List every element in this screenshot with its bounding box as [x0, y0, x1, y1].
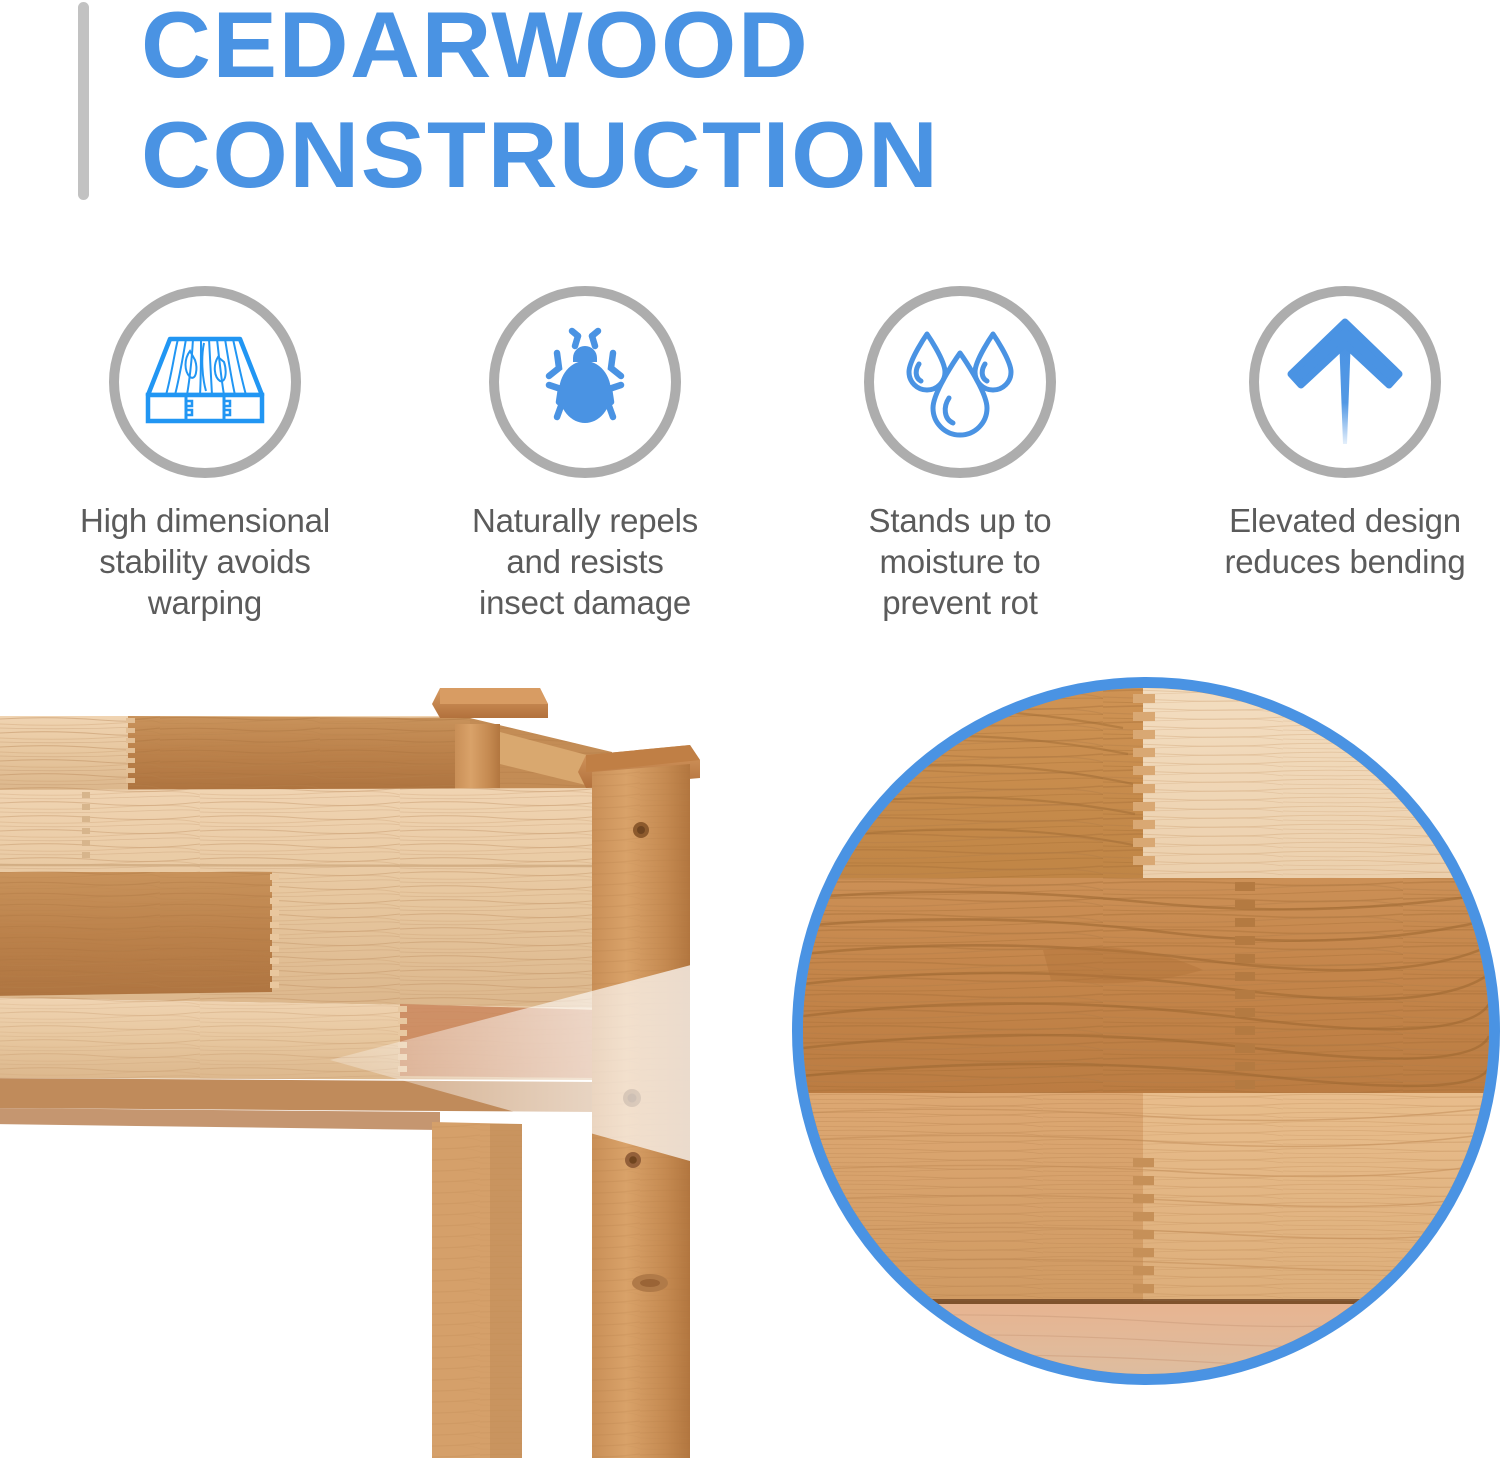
heading-accent-rule — [78, 2, 89, 200]
product-photo — [0, 660, 1500, 1458]
feature-row: High dimensional stability avoids warpin… — [0, 286, 1500, 646]
icon-ring-4 — [1249, 286, 1441, 478]
icon-ring-2 — [489, 286, 681, 478]
rear-leg — [432, 1122, 522, 1458]
feature-item-elevated: Elevated design reduces bending — [1175, 286, 1500, 636]
magnified-wood-detail — [803, 688, 1489, 1374]
water-droplets-icon — [895, 320, 1025, 444]
page-title: CEDARWOOD CONSTRUCTION — [141, 0, 1202, 210]
wood-grain-plank-icon — [140, 327, 270, 437]
magnifier-circle — [792, 677, 1500, 1385]
up-arrow-icon — [1283, 314, 1407, 450]
infographic-page: CEDARWOOD CONSTRUCTION — [0, 0, 1500, 1458]
heading-block: CEDARWOOD CONSTRUCTION — [78, 0, 1178, 215]
feature-caption-4: Elevated design reduces bending — [1155, 500, 1500, 582]
feature-item-insect: Naturally repels and resists insect dama… — [415, 286, 755, 636]
feature-caption-3: Stands up to moisture to prevent rot — [810, 500, 1110, 623]
icon-ring-1 — [109, 286, 301, 478]
feature-item-stability: High dimensional stability avoids warpin… — [35, 286, 375, 636]
feature-caption-1: High dimensional stability avoids warpin… — [25, 500, 385, 623]
bug-icon — [523, 320, 647, 444]
feature-caption-2: Naturally repels and resists insect dama… — [405, 500, 765, 623]
front-wall — [0, 788, 598, 1008]
icon-ring-3 — [864, 286, 1056, 478]
feature-item-moisture: Stands up to moisture to prevent rot — [790, 286, 1130, 636]
